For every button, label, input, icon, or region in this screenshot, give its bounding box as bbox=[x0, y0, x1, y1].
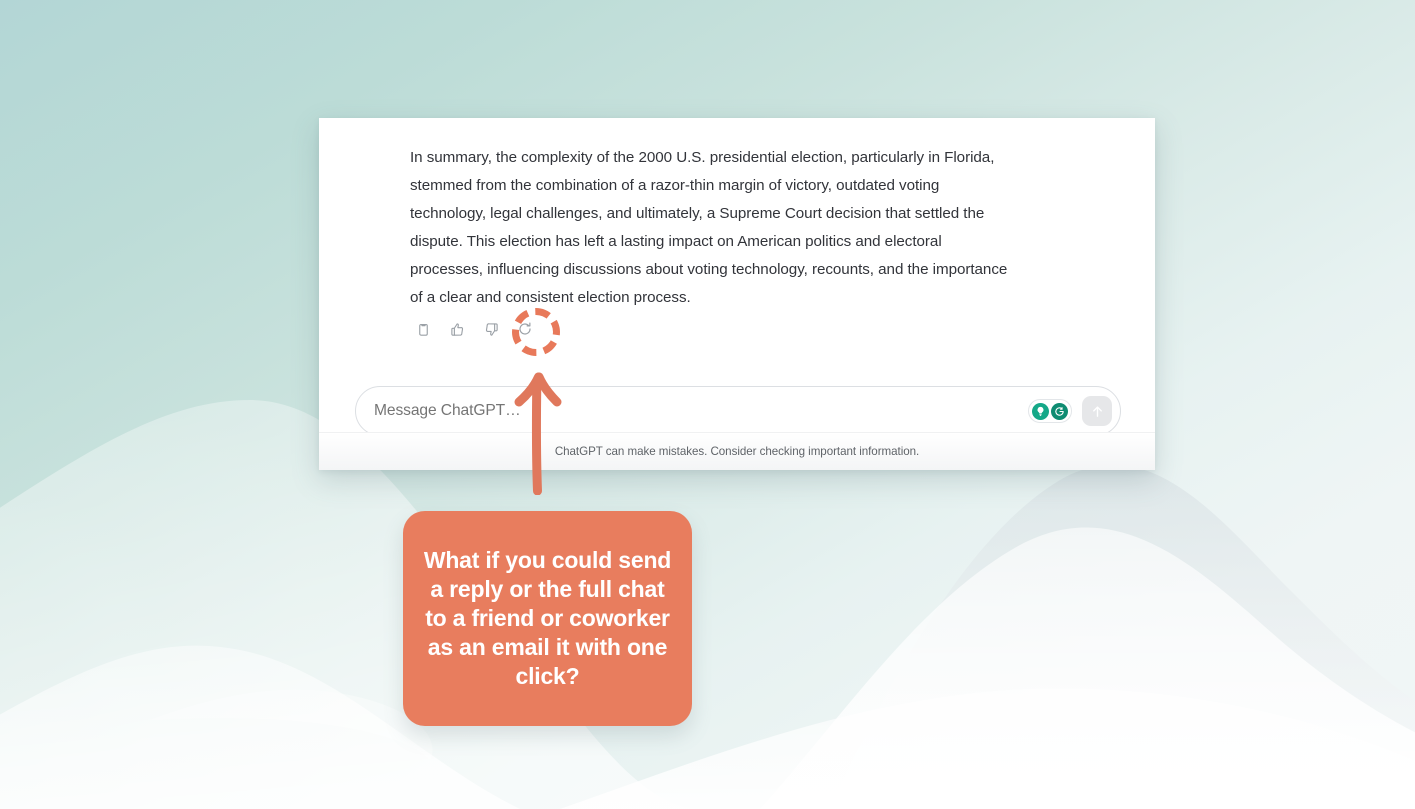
grammarly-refresh-icon[interactable] bbox=[1051, 403, 1068, 420]
composer-right-controls bbox=[1028, 396, 1120, 426]
highlight-ring bbox=[512, 308, 560, 356]
assistant-message-text: In summary, the complexity of the 2000 U… bbox=[410, 144, 1010, 312]
copy-icon[interactable] bbox=[410, 316, 436, 342]
lightbulb-icon[interactable] bbox=[1032, 403, 1049, 420]
message-composer[interactable] bbox=[355, 386, 1121, 436]
message-input[interactable] bbox=[356, 402, 1028, 420]
screenshot-stage: In summary, the complexity of the 2000 U… bbox=[0, 0, 1415, 809]
send-button[interactable] bbox=[1082, 396, 1112, 426]
thumbs-down-icon[interactable] bbox=[478, 316, 504, 342]
disclaimer-text: ChatGPT can make mistakes. Consider chec… bbox=[555, 445, 919, 458]
callout-text: What if you could send a reply or the fu… bbox=[417, 546, 678, 691]
annotation-callout: What if you could send a reply or the fu… bbox=[403, 511, 692, 726]
grammarly-pill[interactable] bbox=[1028, 399, 1072, 423]
card-footer: ChatGPT can make mistakes. Consider chec… bbox=[319, 432, 1155, 470]
chatgpt-conversation-card: In summary, the complexity of the 2000 U… bbox=[319, 118, 1155, 470]
thumbs-up-icon[interactable] bbox=[444, 316, 470, 342]
